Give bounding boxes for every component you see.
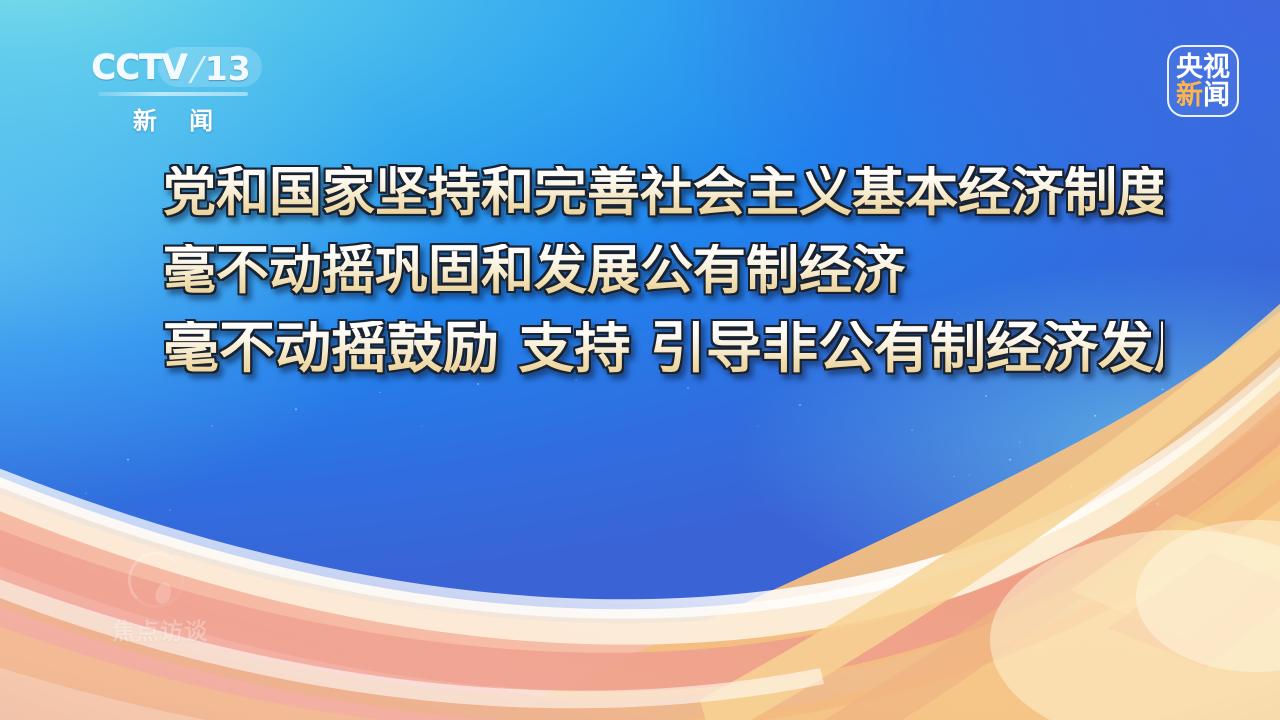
news-badge-line-1: 央视 [1176, 54, 1230, 81]
cctv-logo-row: CCTV / 13 [84, 46, 262, 91]
headline-line-1: 党和国家坚持和完善社会主义基本经济制度 [163, 166, 1163, 219]
cctv-news-badge: 央视 新 闻 [1167, 45, 1239, 117]
cctv-channel-number: 13 [205, 49, 251, 88]
news-badge-line-2: 新 闻 [1176, 82, 1230, 109]
cctv13-channel-logo: CCTV / 13 新 闻 [84, 46, 262, 136]
headline-line-2: 毫不动摇巩固和发展公有制经济 [163, 244, 1163, 297]
news-badge-text-top: 央视 [1176, 54, 1230, 81]
cctv-wordmark: CCTV [91, 48, 186, 88]
broadcast-frame: CCTV / 13 新 闻 央视 新 闻 党和国家坚持和完善社会主义基本经济制度… [0, 0, 1280, 720]
news-badge-text-accent: 新 [1176, 82, 1203, 109]
cctv-logo-underline [98, 92, 248, 96]
cctv-channel-subtitle: 新 闻 [84, 101, 262, 136]
headline-block: 党和国家坚持和完善社会主义基本经济制度 毫不动摇巩固和发展公有制经济 毫不动摇鼓… [163, 166, 1163, 377]
news-badge-text-bottom: 闻 [1203, 82, 1230, 109]
headline-line-3: 毫不动摇鼓励 支持 引导非公有制经济发展 [163, 321, 1163, 377]
